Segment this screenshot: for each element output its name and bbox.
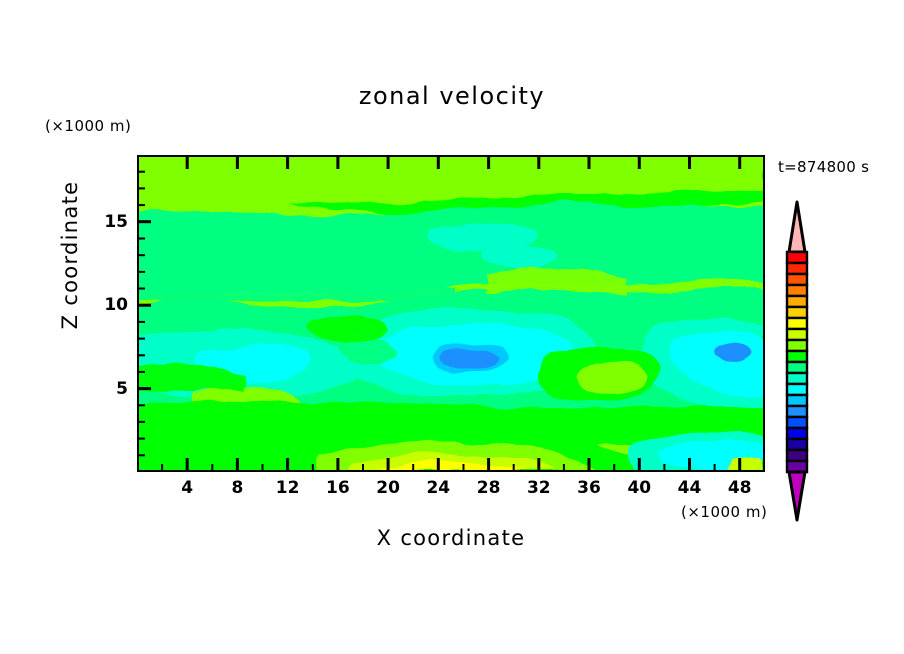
x-tick-label: 44 <box>678 478 702 498</box>
x-tick-label: 20 <box>376 478 400 498</box>
x-tick-label: 24 <box>426 478 450 498</box>
y-tick-label: 5 <box>116 379 128 399</box>
x-axis-unit-label: (×1000 m) <box>681 503 767 521</box>
x-tick-label: 4 <box>181 478 193 498</box>
x-tick-label: 36 <box>577 478 601 498</box>
axis-ticks <box>120 145 800 505</box>
y-tick-label: 10 <box>104 295 128 315</box>
colorbar-over-arrow <box>789 202 805 252</box>
x-tick-label: 8 <box>231 478 243 498</box>
y-axis-title: Z coordinate <box>58 145 82 365</box>
x-tick-label: 28 <box>477 478 501 498</box>
colorbar: 36 24 12 0 -12 -24 -36 <box>775 200 819 522</box>
x-axis-title: X coordinate <box>137 526 765 550</box>
x-tick-label: 12 <box>276 478 300 498</box>
y-axis-unit-label: (×1000 m) <box>45 117 131 135</box>
colorbar-under-arrow <box>789 472 805 520</box>
colorbar-swatches <box>775 200 819 522</box>
page-title: zonal velocity <box>0 82 904 110</box>
y-tick-label: 15 <box>104 212 128 232</box>
x-tick-label: 48 <box>728 478 752 498</box>
x-tick-label: 16 <box>326 478 350 498</box>
x-tick-label: 32 <box>527 478 551 498</box>
x-tick-label: 40 <box>627 478 651 498</box>
